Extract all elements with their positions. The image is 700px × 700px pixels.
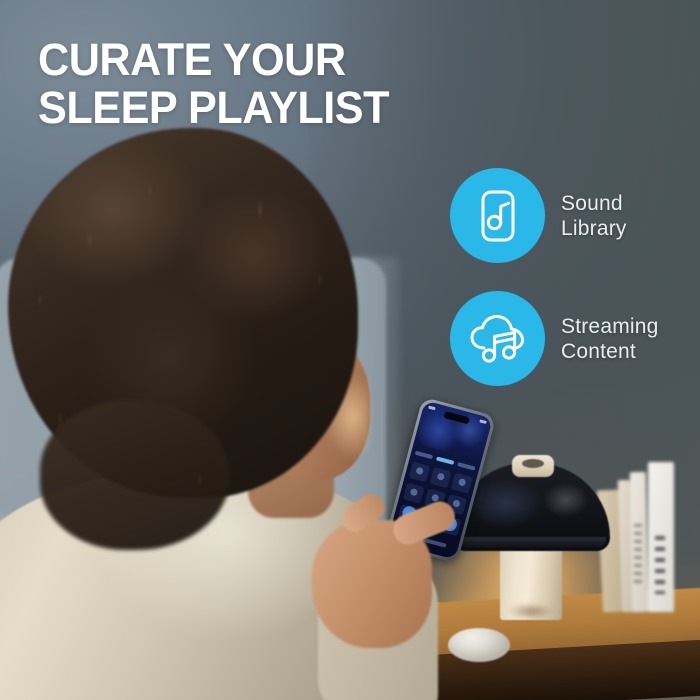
feature-icon-circle: [450, 168, 545, 263]
feature-list: Sound Library Streaming Content: [450, 168, 700, 414]
feature-label: Sound Library: [561, 191, 627, 241]
sound-tile[interactable]: [451, 473, 473, 494]
lamp-base-shadow: [500, 605, 562, 621]
book-spine-marks: [655, 536, 665, 594]
feature-label-line-2: Library: [561, 216, 627, 241]
sound-tile[interactable]: [430, 467, 452, 488]
page-title: CURATE YOUR SLEEP PLAYLIST: [38, 36, 389, 132]
cloud-music-notes-icon: [468, 311, 528, 367]
headline-line-1: CURATE YOUR: [38, 36, 389, 84]
app-tab[interactable]: [415, 450, 433, 459]
book-stack: [600, 462, 700, 612]
status-time: [428, 405, 436, 410]
app-tab[interactable]: [457, 462, 475, 471]
feature-label: Streaming Content: [561, 314, 659, 364]
status-battery: [479, 419, 487, 424]
pebble-speaker: [448, 628, 510, 662]
headline-line-2: SLEEP PLAYLIST: [38, 84, 389, 132]
sound-tile[interactable]: [409, 461, 431, 482]
feature-sound-library: Sound Library: [450, 168, 700, 263]
lamp-knob-hole: [522, 459, 544, 468]
person-hair-wisps: [0, 120, 380, 510]
feature-icon-circle: [450, 291, 545, 386]
phone-music-note-icon: [472, 187, 524, 245]
feature-label-line-1: Sound: [561, 191, 627, 216]
book-spine-text-blur: [634, 524, 642, 586]
marketing-banner: CURATE YOUR SLEEP PLAYLIST Sound Library: [0, 0, 700, 700]
app-tab-active[interactable]: [436, 456, 454, 465]
feature-streaming-content: Streaming Content: [450, 291, 700, 386]
feature-label-line-1: Streaming: [561, 314, 659, 339]
feature-label-line-2: Content: [561, 339, 659, 364]
